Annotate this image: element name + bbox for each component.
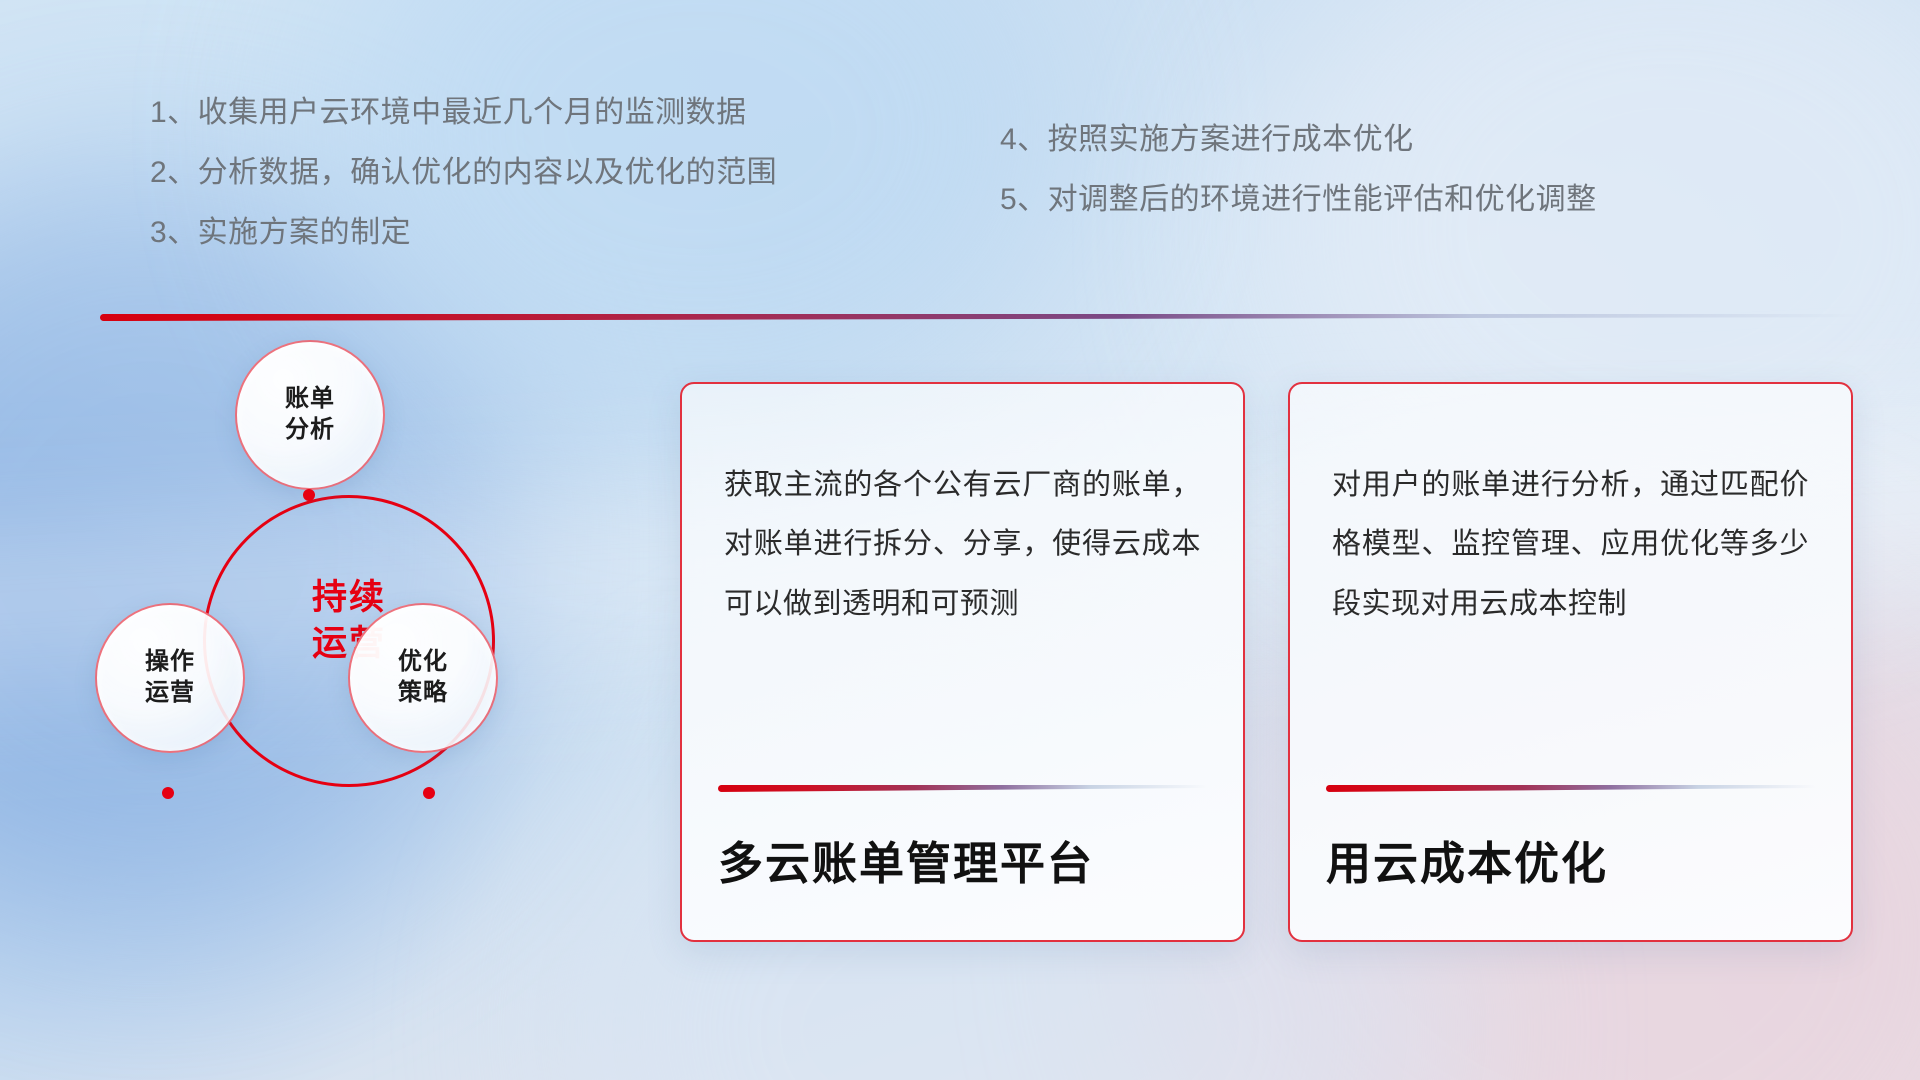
steps-left-column: 1、收集用户云环境中最近几个月的监测数据 2、分析数据，确认优化的内容以及优化的…	[150, 98, 777, 278]
bubble-label-line-2: 分析	[285, 415, 335, 446]
step-item: 2、分析数据，确认优化的内容以及优化的范围	[150, 158, 777, 188]
card-title: 多云账单管理平台	[718, 839, 1218, 889]
bubble-label: 操作 运营	[145, 647, 195, 708]
step-item: 3、实施方案的制定	[150, 218, 777, 248]
steps-section: 1、收集用户云环境中最近几个月的监测数据 2、分析数据，确认优化的内容以及优化的…	[0, 0, 1920, 260]
card-divider	[718, 785, 1208, 792]
step-item: 1、收集用户云环境中最近几个月的监测数据	[150, 98, 777, 128]
card-body-text: 对用户的账单进行分析，通过匹配价格模型、监控管理、应用优化等多少段实现对用云成本…	[1290, 384, 1851, 634]
diagram-bubble-bill-analysis[interactable]: 账单 分析	[235, 340, 385, 490]
bubble-label: 账单 分析	[285, 384, 335, 445]
node-dot-right	[423, 787, 435, 799]
card-body-text: 获取主流的各个公有云厂商的账单，对账单进行拆分、分享，使得云成本可以做到透明和可…	[682, 384, 1243, 634]
card-multicloud-billing-platform[interactable]: 获取主流的各个公有云厂商的账单，对账单进行拆分、分享，使得云成本可以做到透明和可…	[680, 382, 1245, 942]
bubble-label-line-2: 运营	[145, 678, 195, 709]
diagram-bubble-operations[interactable]: 操作 运营	[95, 603, 245, 753]
bubble-label-line-1: 操作	[145, 647, 195, 678]
card-cloud-cost-optimization[interactable]: 对用户的账单进行分析，通过匹配价格模型、监控管理、应用优化等多少段实现对用云成本…	[1288, 382, 1853, 942]
card-title: 用云成本优化	[1326, 839, 1826, 889]
bubble-label-line-1: 账单	[285, 384, 335, 415]
node-dot-top	[303, 489, 315, 501]
diagram-bubble-optimization-strategy[interactable]: 优化 策略	[348, 603, 498, 753]
bubble-label-line-2: 策略	[398, 678, 448, 709]
continuous-operation-diagram: 持续 运营 账单 分析 操作 运营 优化 策略	[95, 350, 565, 950]
step-item: 5、对调整后的环境进行性能评估和优化调整	[1000, 185, 1597, 215]
card-divider	[1326, 785, 1816, 792]
steps-right-column: 4、按照实施方案进行成本优化 5、对调整后的环境进行性能评估和优化调整	[1000, 125, 1597, 245]
step-item: 4、按照实施方案进行成本优化	[1000, 125, 1597, 155]
node-dot-left	[162, 787, 174, 799]
bubble-label: 优化 策略	[398, 647, 448, 708]
bubble-label-line-1: 优化	[398, 647, 448, 678]
